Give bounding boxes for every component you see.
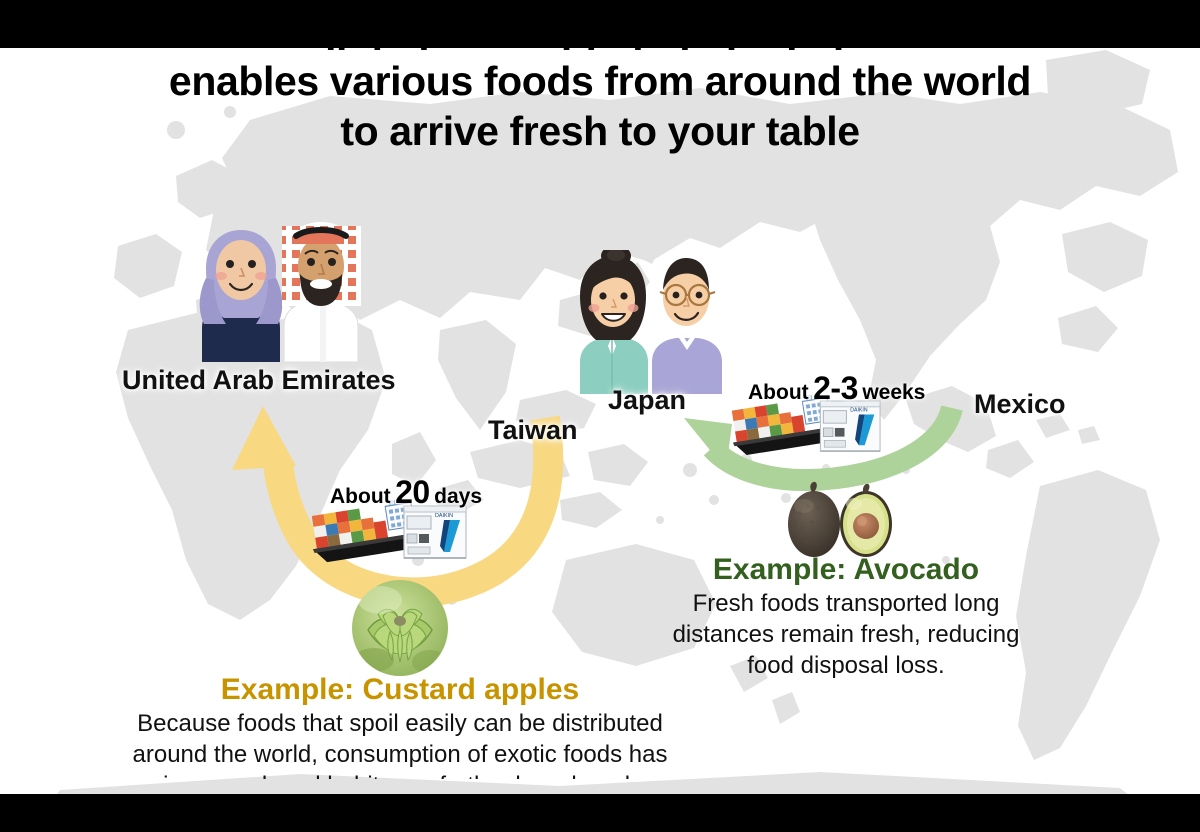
japan-woman-figure (580, 250, 648, 394)
custard-apple-photo (350, 578, 450, 678)
svg-text:DAIKIN: DAIKIN (435, 513, 453, 519)
label-japan: Japan (608, 385, 686, 416)
headline-line-2: to arrive fresh to your table (0, 106, 1200, 156)
infographic-slide: DAIKIN (0, 0, 1200, 832)
example-body-line: increased, and habits are further broade… (60, 770, 740, 779)
duration-value: 20 (395, 474, 430, 510)
japan-man-figure (652, 258, 722, 394)
duration-prefix: About (330, 485, 391, 508)
example-custard-apples: Example: Custard apples Because foods th… (60, 672, 740, 779)
duration-unit: weeks (862, 381, 925, 404)
example-body-avocado: Fresh foods transported long distances r… (636, 588, 1056, 681)
uae-woman-figure (200, 230, 283, 362)
duration-label-taiwan-route: About 20 days (330, 474, 482, 511)
refrigerated-container-icon: DAIKIN (404, 506, 466, 558)
refrigerated-container-icon: DAIKIN (820, 401, 880, 451)
page-title: digital-era cold-chain logistics enables… (0, 46, 1200, 156)
example-avocado: Example: Avocado Fresh foods transported… (636, 552, 1056, 681)
avocado-photo (782, 472, 898, 564)
headline-line-1: enables various foods from around the wo… (0, 56, 1200, 106)
example-body-line: around the world, consumption of exotic … (60, 739, 740, 770)
duration-unit: days (434, 485, 482, 508)
avocado-half (840, 484, 892, 557)
example-body-line: distances remain fresh, reducing (636, 619, 1056, 650)
example-title-avocado: Example: Avocado (636, 552, 1056, 588)
uae-man-figure (282, 222, 361, 362)
duration-prefix: About (748, 381, 809, 404)
label-mexico: Mexico (974, 389, 1066, 420)
svg-text:DAIKIN: DAIKIN (850, 408, 868, 414)
duration-label-mexico-route: About 2-3 weeks (748, 370, 925, 407)
label-taiwan: Taiwan (488, 415, 578, 446)
letterbox-bar-bottom (0, 794, 1200, 832)
avocado-whole (788, 482, 840, 557)
label-united-arab-emirates: United Arab Emirates (122, 365, 396, 396)
uae-couple-illustration (180, 212, 366, 364)
example-body-custard-apples: Because foods that spoil easily can be d… (60, 708, 740, 779)
letterbox-bar-top (0, 0, 1200, 48)
example-body-line: Because foods that spoil easily can be d… (60, 708, 740, 739)
example-body-line: food disposal loss. (636, 650, 1056, 681)
duration-value: 2-3 (813, 370, 858, 406)
example-body-line: Fresh foods transported long (636, 588, 1056, 619)
japan-couple-illustration (574, 250, 726, 396)
